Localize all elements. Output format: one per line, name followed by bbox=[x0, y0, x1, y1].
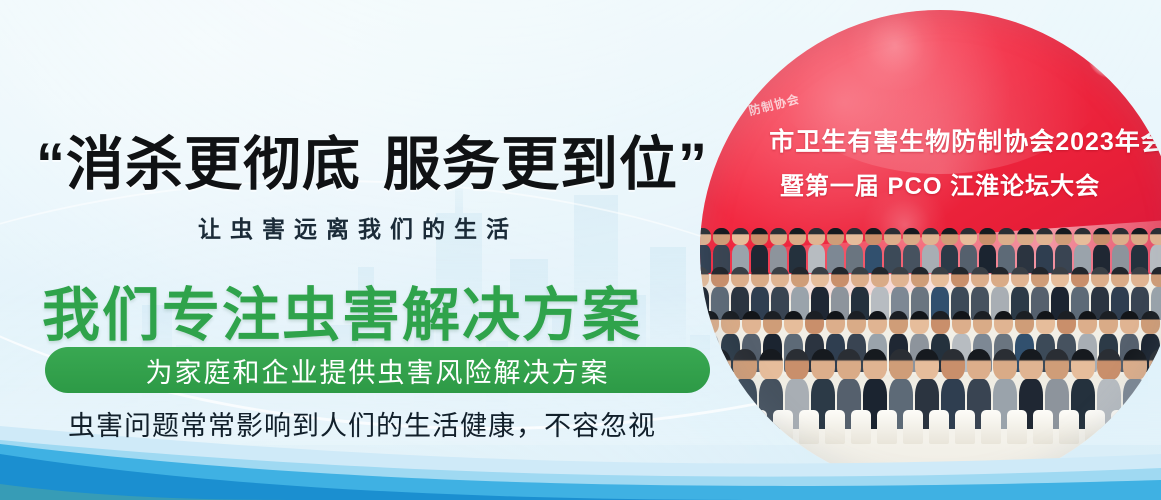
headline-part-2: 服务更到位 bbox=[383, 132, 678, 197]
service-pill-label: 为家庭和企业提供虫害风险解决方案 bbox=[146, 351, 610, 390]
headline-quote-close: ” bbox=[678, 132, 708, 197]
service-pill-banner: 为家庭和企业提供虫害风险解决方案 bbox=[45, 347, 710, 393]
promo-banner: 防制协会 市卫生有害生物防制协会2023年会 暨第一届 PCO 江淮论坛大会 bbox=[0, 0, 1161, 500]
subtitle-text: 让虫害远离我们的生活 bbox=[198, 210, 518, 244]
headline-part-1: 消杀更彻底 bbox=[66, 132, 361, 197]
page-title: “消杀更彻底服务更到位” bbox=[36, 117, 708, 201]
headline-quote-open: “ bbox=[36, 132, 66, 197]
footer-tagline: 虫害问题常常影响到人们的生活健康，不容忽视 bbox=[68, 404, 656, 443]
green-headline: 我们专注虫害解决方案 bbox=[42, 268, 642, 352]
